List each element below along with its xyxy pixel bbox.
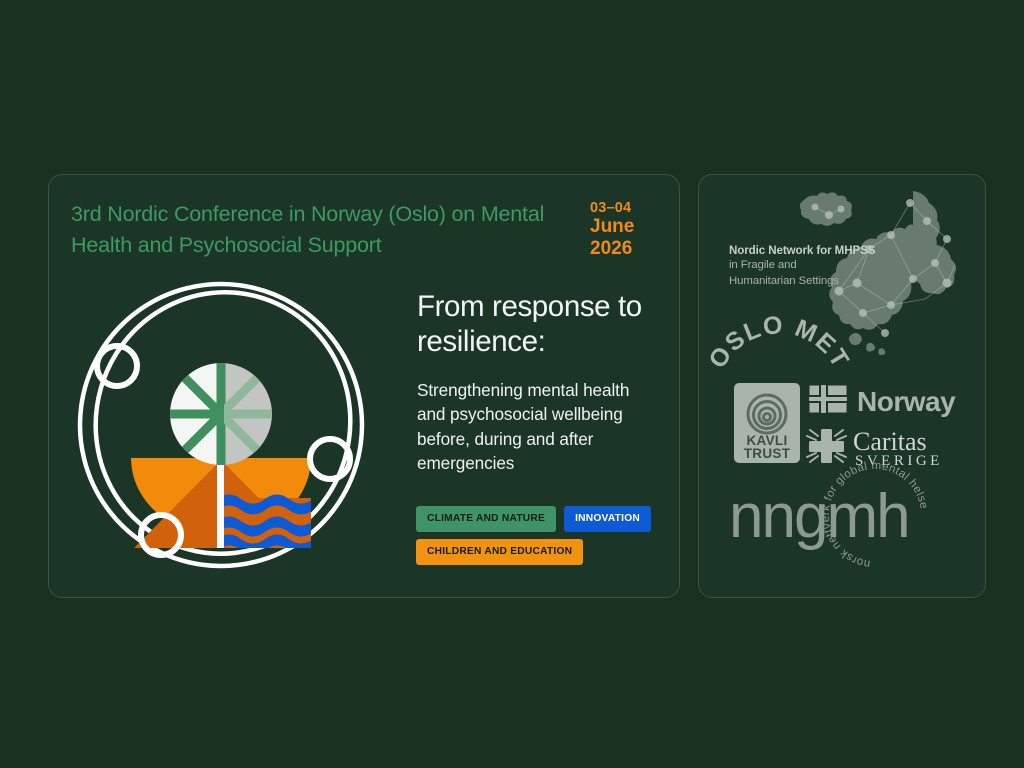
norway-logo: Norway xyxy=(809,381,965,419)
main-content-card: 3rd Nordic Conference in Norway (Oslo) o… xyxy=(48,174,680,598)
caritas-sverige-logo: Caritas SVERIGE xyxy=(807,425,967,467)
poster-stage: 3rd Nordic Conference in Norway (Oslo) o… xyxy=(0,0,1024,768)
network-line-1: Nordic Network for MHPSS xyxy=(729,243,909,258)
date-badge: 03–04 June 2026 xyxy=(590,200,660,259)
subheadline: Strengthening mental health and psychoso… xyxy=(417,378,661,476)
network-line-3: Humanitarian Settings xyxy=(729,274,909,289)
caritas-cross-icon xyxy=(807,429,846,463)
date-month: June xyxy=(590,216,660,237)
nordic-network-label: Nordic Network for MHPSS in Fragile and … xyxy=(729,243,909,289)
network-line-2: in Fragile and xyxy=(729,258,909,273)
svg-text:Norway: Norway xyxy=(857,386,956,417)
resilience-emblem-illustration xyxy=(71,273,371,573)
partners-card: Nordic Network for MHPSS in Fragile and … xyxy=(698,174,986,598)
date-year: 2026 xyxy=(590,238,660,259)
kavli-line-2: TRUST xyxy=(744,446,791,461)
topic-tag-list: CLIMATE AND NATURE INNOVATION CHILDREN A… xyxy=(416,506,668,565)
caritas-line-1: Caritas xyxy=(853,427,927,456)
tag-climate-and-nature[interactable]: CLIMATE AND NATURE xyxy=(416,506,556,532)
nngmh-wordmark: nngmh xyxy=(729,482,909,551)
nngmh-logo: nngmh norsk nettverk for global mental h… xyxy=(725,465,965,575)
tag-children-and-education[interactable]: CHILDREN AND EDUCATION xyxy=(416,539,583,565)
oslomet-logo: OSLO MET xyxy=(719,295,839,375)
tag-innovation[interactable]: INNOVATION xyxy=(564,506,651,532)
date-days: 03–04 xyxy=(590,200,660,216)
pinwheel-flower xyxy=(167,361,275,469)
kavli-trust-logo: KAVLI TRUST xyxy=(734,383,800,463)
conference-title: 3rd Nordic Conference in Norway (Oslo) o… xyxy=(71,199,571,260)
svg-text:OSLO MET: OSLO MET xyxy=(703,311,855,373)
headline: From response to resilience: xyxy=(417,290,667,360)
norwegian-flag-icon xyxy=(809,385,847,413)
